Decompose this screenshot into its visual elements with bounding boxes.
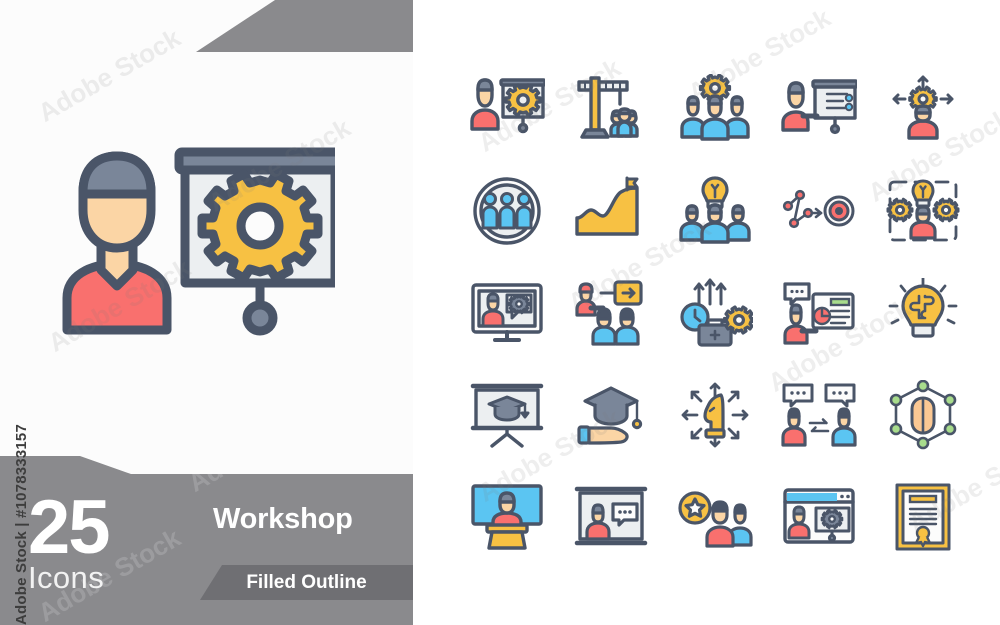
grid-cell[interactable]: [455, 60, 559, 162]
crane-audience-icon[interactable]: [573, 74, 649, 149]
team-idea-bulb-icon[interactable]: [677, 176, 753, 251]
brain-network-icon[interactable]: [885, 380, 961, 455]
icon-count-number: 25: [28, 495, 109, 560]
grid-cell[interactable]: [663, 162, 767, 264]
grid-cell[interactable]: [455, 162, 559, 264]
grid-cell[interactable]: [871, 162, 975, 264]
presenter-report-chart-icon[interactable]: [781, 278, 857, 353]
grid-cell[interactable]: [559, 366, 663, 468]
team-circle-icon[interactable]: [469, 176, 545, 251]
grid-cell[interactable]: [767, 468, 871, 570]
grid-cell[interactable]: [559, 162, 663, 264]
promo-panel: 25 Icons Workshop Filled Outline Adobe S…: [0, 0, 413, 625]
grid-cell[interactable]: [455, 264, 559, 366]
growth-chart-flag-icon[interactable]: [573, 176, 649, 251]
certificate-award-icon[interactable]: [885, 482, 961, 557]
top-wedge-decoration: [0, 0, 413, 52]
person-bulb-gears-frame-icon[interactable]: [885, 176, 961, 251]
grid-cell[interactable]: [767, 60, 871, 162]
icon-set-title: Workshop: [213, 503, 353, 536]
grid-cell[interactable]: [767, 264, 871, 366]
style-badge-label: Filled Outline: [246, 572, 366, 594]
grid-cell[interactable]: [455, 468, 559, 570]
path-to-target-icon[interactable]: [781, 176, 857, 251]
grid-cell[interactable]: [663, 264, 767, 366]
grid-cell[interactable]: [663, 468, 767, 570]
team-gear-icon[interactable]: [677, 74, 753, 149]
grid-cell[interactable]: [871, 366, 975, 468]
person-gear-expand-icon[interactable]: [885, 74, 961, 149]
presentation-gear-presenter-icon[interactable]: [469, 74, 545, 149]
stock-image-preview: 25 Icons Workshop Filled Outline Adobe S…: [0, 0, 1000, 625]
speaker-podium-icon[interactable]: [469, 482, 545, 557]
puzzle-lightbulb-icon[interactable]: [885, 278, 961, 353]
chess-knight-strategy-icon[interactable]: [677, 380, 753, 455]
grid-cell[interactable]: [663, 60, 767, 162]
browser-presentation-icon[interactable]: [781, 482, 857, 557]
grid-cell[interactable]: [767, 366, 871, 468]
monitor-webinar-icon[interactable]: [469, 278, 545, 353]
time-management-icon[interactable]: [677, 278, 753, 353]
adobe-stock-credit-label: Adobe Stock | #1078333157: [13, 418, 30, 625]
grid-cell[interactable]: [871, 264, 975, 366]
style-badge: Filled Outline: [200, 565, 413, 600]
hero-icon: [55, 130, 335, 345]
easel-graduation-cap-icon[interactable]: [469, 380, 545, 455]
grid-cell[interactable]: [559, 60, 663, 162]
people-idea-exchange-icon[interactable]: [781, 380, 857, 455]
presenter-speech-board-icon[interactable]: [573, 482, 649, 557]
adobe-stock-credit: Adobe Stock | #1078333157: [6, 0, 36, 625]
watermark-text: Adobe Stock: [33, 22, 186, 128]
grid-cell[interactable]: [559, 468, 663, 570]
grid-cell[interactable]: [767, 162, 871, 264]
grid-cell[interactable]: [871, 60, 975, 162]
icon-count-block: 25 Icons: [28, 495, 109, 593]
presenter-checklist-board-icon[interactable]: [781, 74, 857, 149]
grid-cell[interactable]: [871, 468, 975, 570]
trainer-direction-sign-icon[interactable]: [573, 278, 649, 353]
grid-cell[interactable]: [663, 366, 767, 468]
grid-cell[interactable]: [559, 264, 663, 366]
icon-grid: [455, 60, 975, 570]
star-rating-team-icon[interactable]: [677, 482, 753, 557]
hand-graduation-cap-icon[interactable]: [573, 380, 649, 455]
icon-count-word: Icons: [28, 562, 109, 593]
grid-cell[interactable]: [455, 366, 559, 468]
